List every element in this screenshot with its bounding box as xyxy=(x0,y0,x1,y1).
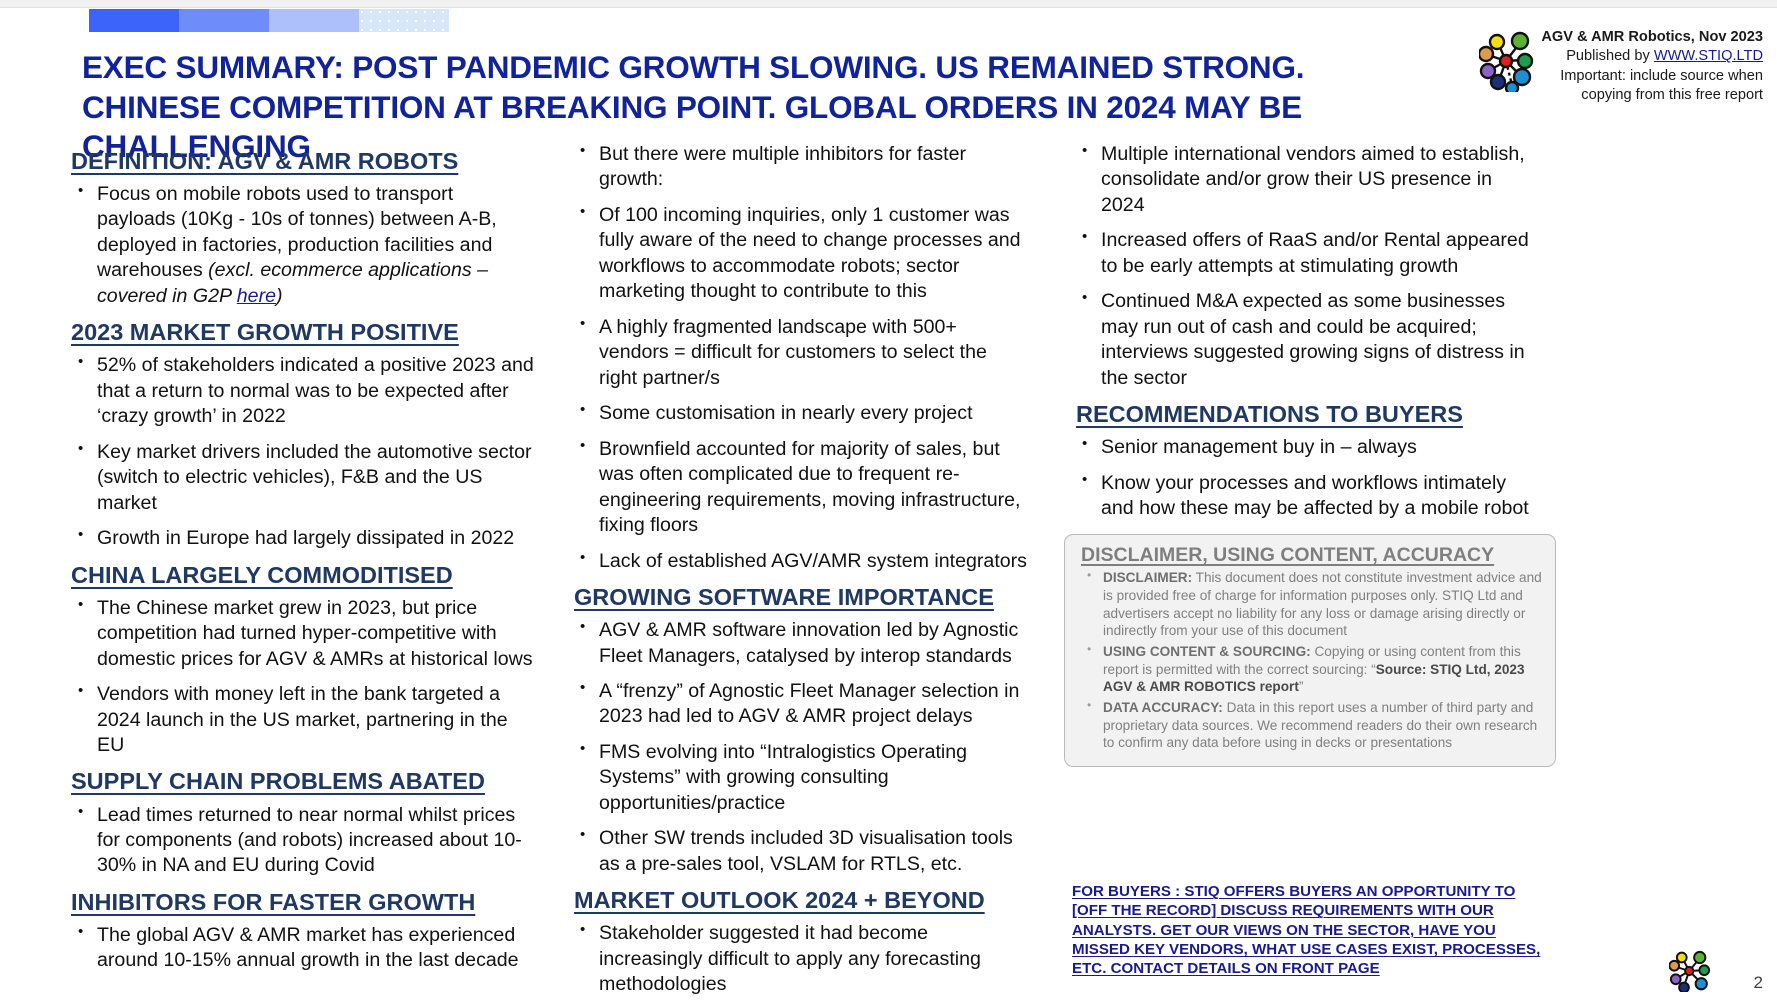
stiq-logo-footer-icon xyxy=(1669,950,1711,997)
list-item: A “frenzy” of Agnostic Fleet Manager sel… xyxy=(568,679,1030,730)
list-item: AGV & AMR software innovation led by Agn… xyxy=(568,618,1030,669)
source-notice-line2: copying from this free report xyxy=(1541,86,1763,105)
list-item: Other SW trends included 3D visualisatio… xyxy=(568,826,1030,877)
list-item: Key market drivers included the automoti… xyxy=(66,440,536,516)
list-item: Growth in Europe had largely dissipated … xyxy=(66,526,536,551)
list-item: Increased offers of RaaS and/or Rental a… xyxy=(1070,228,1532,279)
progress-segment-3 xyxy=(269,9,359,32)
list-item: Focus on mobile robots used to transport… xyxy=(66,182,536,309)
disclaimer-heading: DISCLAIMER, USING CONTENT, ACCURACY xyxy=(1081,545,1543,566)
section-heading-definition: DEFINITION: AGV & AMR ROBOTS xyxy=(71,148,536,175)
list-item: Lead times returned to near normal whils… xyxy=(66,803,536,879)
progress-segment-1 xyxy=(89,9,179,32)
list-item: Continued M&A expected as some businesse… xyxy=(1070,289,1532,391)
section-heading-2023-growth: 2023 MARKET GROWTH POSITIVE xyxy=(71,319,536,346)
list-item: Of 100 incoming inquiries, only 1 custom… xyxy=(568,203,1030,305)
sourcing-label: USING CONTENT & SOURCING: xyxy=(1103,644,1311,659)
inhibitors-bullet-list: The global AGV & AMR market has experien… xyxy=(66,923,536,974)
definition-bullet-list: Focus on mobile robots used to transport… xyxy=(66,182,536,309)
list-item: But there were multiple inhibitors for f… xyxy=(568,142,1030,193)
disclaimer-list: DISCLAIMER: This document does not const… xyxy=(1077,569,1543,752)
list-item: A highly fragmented landscape with 500+ … xyxy=(568,315,1030,391)
list-item: The global AGV & AMR market has experien… xyxy=(66,923,536,974)
progress-segments xyxy=(89,9,449,32)
right-lead-bullet-list: Multiple international vendors aimed to … xyxy=(1070,142,1532,391)
published-by-line: Published by WWW.STIQ.LTD xyxy=(1541,47,1763,66)
disclaimer-label: DISCLAIMER: xyxy=(1103,570,1192,585)
section-heading-growing-software: GROWING SOFTWARE IMPORTANCE xyxy=(574,584,1030,611)
list-item: Brownfield accounted for majority of sal… xyxy=(568,437,1030,539)
list-item: Lack of established AGV/AMR system integ… xyxy=(568,549,1030,574)
list-item: Multiple international vendors aimed to … xyxy=(1070,142,1532,218)
middle-column: But there were multiple inhibitors for f… xyxy=(568,142,1030,1005)
list-item: DATA ACCURACY: Data in this report uses … xyxy=(1077,699,1543,752)
outlook-bullet-list: Stakeholder suggested it had become incr… xyxy=(568,921,1030,1005)
list-item: Some customisation in nearly every proje… xyxy=(568,401,1030,426)
header-branding: AGV & AMR Robotics, Nov 2023 Published b… xyxy=(1479,28,1763,106)
right-column: Multiple international vendors aimed to … xyxy=(1070,142,1532,593)
section-heading-market-outlook: MARKET OUTLOOK 2024 + BEYOND xyxy=(574,887,1030,914)
slide-canvas: EXEC SUMMARY: POST PANDEMIC GROWTH SLOWI… xyxy=(0,0,1777,1005)
publisher-info: AGV & AMR Robotics, Nov 2023 Published b… xyxy=(1541,28,1763,106)
report-title-label: AGV & AMR Robotics, Nov 2023 xyxy=(1541,28,1763,47)
software-bullet-list: AGV & AMR software innovation led by Agn… xyxy=(568,618,1030,877)
section-heading-china: CHINA LARGELY COMMODITISED xyxy=(71,562,536,589)
for-buyers-callout[interactable]: FOR BUYERS : STIQ OFFERS BUYERS AN OPPOR… xyxy=(1072,882,1550,979)
growth-bullet-list: 52% of stakeholders indicated a positive… xyxy=(66,353,536,551)
section-heading-supply-chain: SUPPLY CHAIN PROBLEMS ABATED xyxy=(71,768,536,795)
bullet-italic-tail: ) xyxy=(276,285,283,307)
list-item: Vendors with money left in the bank targ… xyxy=(66,682,536,758)
stiq-website-link[interactable]: WWW.STIQ.LTD xyxy=(1654,48,1763,64)
list-item: FMS evolving into “Intralogistics Operat… xyxy=(568,740,1030,816)
supply-chain-bullet-list: Lead times returned to near normal whils… xyxy=(66,803,536,879)
top-rule xyxy=(0,0,1777,8)
middle-lead-bullet-list: But there were multiple inhibitors for f… xyxy=(568,142,1030,574)
page-number: 2 xyxy=(1754,973,1763,993)
section-heading-recommendations: RECOMMENDATIONS TO BUYERS xyxy=(1076,401,1532,428)
stiq-logo-icon xyxy=(1479,30,1535,97)
g2p-here-link[interactable]: here xyxy=(237,285,276,307)
list-item: 52% of stakeholders indicated a positive… xyxy=(66,353,536,429)
list-item: Senior management buy in – always xyxy=(1070,435,1532,460)
left-column: DEFINITION: AGV & AMR ROBOTS Focus on mo… xyxy=(66,142,536,984)
sourcing-tail: ” xyxy=(1299,679,1304,694)
list-item: DISCLAIMER: This document does not const… xyxy=(1077,569,1543,640)
list-item: The Chinese market grew in 2023, but pri… xyxy=(66,596,536,672)
section-heading-inhibitors: INHIBITORS FOR FASTER GROWTH xyxy=(71,889,536,916)
list-item: Know your processes and workflows intima… xyxy=(1070,471,1532,522)
data-accuracy-label: DATA ACCURACY: xyxy=(1103,700,1223,715)
progress-segment-4 xyxy=(359,9,449,32)
source-notice-line1: Important: include source when xyxy=(1541,67,1763,86)
china-bullet-list: The Chinese market grew in 2023, but pri… xyxy=(66,596,536,759)
published-by-prefix: Published by xyxy=(1566,48,1654,64)
list-item: Stakeholder suggested it had become incr… xyxy=(568,921,1030,997)
disclaimer-panel: DISCLAIMER, USING CONTENT, ACCURACY DISC… xyxy=(1064,534,1556,767)
list-item: USING CONTENT & SOURCING: Copying or usi… xyxy=(1077,643,1543,696)
progress-segment-2 xyxy=(179,9,269,32)
